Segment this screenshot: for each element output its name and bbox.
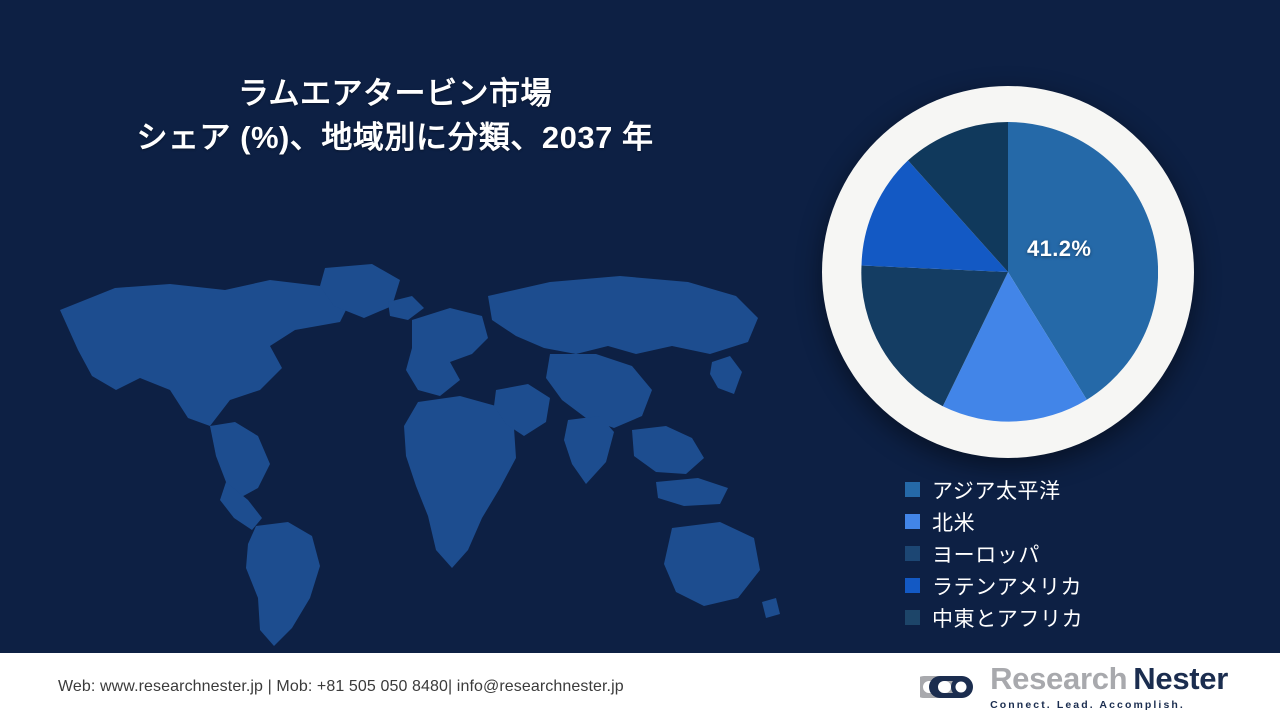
footer-bar: Web: www.researchnester.jp | Mob: +81 50… <box>0 653 1280 720</box>
title-line-1: ラムエアタービン市場 <box>0 72 790 116</box>
logo-tagline: Connect. Lead. Accomplish. <box>990 700 1228 711</box>
chart-legend: アジア太平洋 北米 ヨーロッパ ラテンアメリカ 中東とアフリカ <box>905 474 1083 633</box>
legend-label: ラテンアメリカ <box>932 571 1082 601</box>
pie-slice-value-label: 41.2% <box>1027 236 1091 262</box>
logo-words-row: ResearchNester <box>990 663 1228 694</box>
legend-swatch-icon <box>905 482 920 497</box>
chain-link-logo-icon <box>920 667 978 707</box>
page-title: ラムエアタービン市場 シェア (%)、地域別に分類、2037 年 <box>0 72 790 160</box>
legend-item[interactable]: 中東とアフリカ <box>905 602 1083 633</box>
legend-swatch-icon <box>905 546 920 561</box>
world-map-svg <box>20 250 780 650</box>
logo-wordmark: ResearchNester Connect. Lead. Accomplish… <box>990 663 1228 711</box>
pie-chart: 41.2% <box>822 86 1194 458</box>
legend-label: 中東とアフリカ <box>932 603 1083 633</box>
legend-item[interactable]: 北米 <box>905 506 1083 537</box>
title-line-2: シェア (%)、地域別に分類、2037 年 <box>0 116 790 160</box>
legend-item[interactable]: ヨーロッパ <box>905 538 1083 569</box>
legend-swatch-icon <box>905 610 920 625</box>
legend-label: ヨーロッパ <box>932 539 1040 569</box>
infographic-page: ラムエアタービン市場 シェア (%)、地域別に分類、2037 年 <box>0 0 1280 720</box>
legend-item[interactable]: ラテンアメリカ <box>905 570 1083 601</box>
pie-chart-svg <box>858 122 1158 422</box>
map-landmasses <box>60 264 780 646</box>
legend-label: アジア太平洋 <box>932 475 1061 505</box>
logo-word-nester: Nester <box>1133 661 1228 696</box>
footer-contact-text[interactable]: Web: www.researchnester.jp | Mob: +81 50… <box>58 678 624 696</box>
legend-label: 北米 <box>932 507 975 537</box>
research-nester-logo[interactable]: ResearchNester Connect. Lead. Accomplish… <box>920 663 1228 711</box>
legend-swatch-icon <box>905 578 920 593</box>
logo-word-research: Research <box>990 661 1127 696</box>
legend-swatch-icon <box>905 514 920 529</box>
world-map: 北米 ヨーロッパ アジア太平洋地域 ラテンアメリカ <box>20 250 780 650</box>
legend-item[interactable]: アジア太平洋 <box>905 474 1083 505</box>
